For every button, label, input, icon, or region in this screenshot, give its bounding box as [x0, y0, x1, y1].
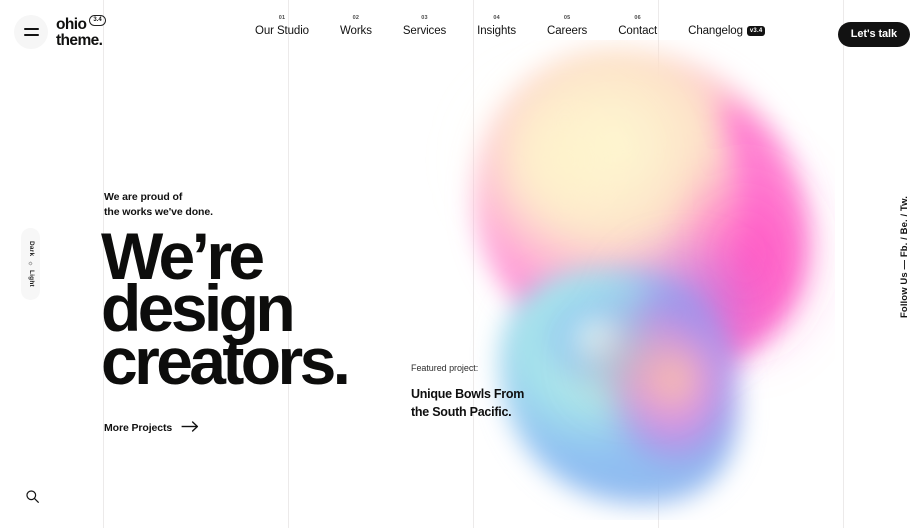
hamburger-icon-bar	[24, 34, 39, 36]
grid-line	[473, 0, 474, 528]
featured-project: Featured project: Unique Bowls From the …	[411, 363, 524, 422]
featured-project-label: Featured project:	[411, 363, 524, 373]
nav-item-works[interactable]: 02 Works	[340, 19, 372, 37]
nav-item-label: Insights	[477, 25, 516, 37]
featured-project-title-line1: Unique Bowls From	[411, 386, 524, 404]
page-title: We’re design creators.	[101, 230, 347, 387]
theme-dark-label: Dark	[27, 241, 34, 256]
nav-item-contact[interactable]: 06 Contact	[618, 19, 657, 37]
nav-item-label: Services	[403, 25, 446, 37]
nav-item-careers[interactable]: 05 Careers	[547, 19, 587, 37]
lets-talk-button[interactable]: Let's talk	[838, 22, 910, 47]
hero-artwork-gradient-blob	[415, 40, 835, 520]
nav-item-label: Contact	[618, 25, 657, 37]
hero-title-line3: creators.	[101, 335, 347, 387]
sun-icon: ☼	[27, 260, 33, 267]
hero-kicker: We are proud of the works we've done.	[104, 190, 347, 220]
nav-item-our-studio[interactable]: 01 Our Studio	[255, 19, 309, 37]
brand-logo[interactable]: ohio 3.4 theme.	[56, 17, 106, 49]
theme-light-label: Light	[27, 270, 34, 287]
theme-switch-toggle[interactable]: Dark ☼ Light	[21, 228, 40, 300]
nav-item-label: Careers	[547, 25, 587, 37]
nav-item-number: 04	[493, 15, 500, 21]
hamburger-icon-bar	[24, 28, 39, 30]
nav-item-label: Changelog	[688, 25, 743, 37]
nav-item-services[interactable]: 03 Services	[403, 19, 446, 37]
featured-project-title[interactable]: Unique Bowls From the South Pacific.	[411, 386, 524, 422]
brand-name-line1: ohio	[56, 17, 86, 33]
grid-line	[843, 0, 844, 528]
nav-item-number: 02	[353, 15, 360, 21]
primary-navigation: 01 Our Studio 02 Works 03 Services 04 In…	[255, 19, 765, 37]
nav-item-number: 06	[634, 15, 641, 21]
nav-item-insights[interactable]: 04 Insights	[477, 19, 516, 37]
brand-version-badge: 3.4	[89, 15, 105, 26]
hero-kicker-line2: the works we've done.	[104, 205, 347, 220]
changelog-version-badge: v3.4	[747, 26, 765, 37]
site-header: ohio 3.4 theme. 01 Our Studio 02 Works 0…	[0, 0, 924, 66]
nav-item-label: Our Studio	[255, 25, 309, 37]
grid-line	[658, 0, 659, 528]
search-button[interactable]	[22, 488, 42, 508]
nav-item-number: 05	[564, 15, 571, 21]
nav-item-changelog[interactable]: Changelog v3.4	[688, 19, 765, 37]
arrow-right-icon	[181, 421, 199, 435]
more-projects-link[interactable]: More Projects	[104, 421, 199, 435]
nav-item-number: 01	[279, 15, 286, 21]
hamburger-menu-button[interactable]	[14, 15, 48, 49]
more-projects-label: More Projects	[104, 422, 172, 434]
follow-us-links[interactable]: Follow Us — Fb. / Be. / Tw.	[899, 196, 910, 318]
nav-item-number: 03	[421, 15, 428, 21]
hero-section: We are proud of the works we've done. We…	[104, 190, 347, 436]
search-icon	[25, 489, 40, 507]
nav-item-label: Works	[340, 25, 372, 37]
brand-name-line2: theme.	[56, 33, 106, 49]
hero-kicker-line1: We are proud of	[104, 190, 347, 205]
featured-project-title-line2: the South Pacific.	[411, 404, 524, 422]
